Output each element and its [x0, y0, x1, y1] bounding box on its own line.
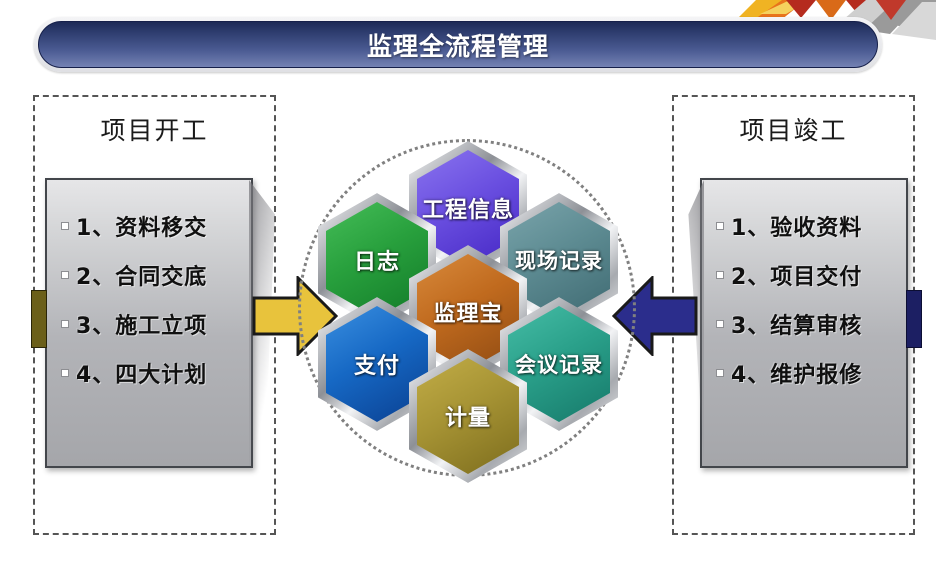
hex-label: 计量 [445, 400, 491, 432]
list-item-label: 3、结算审核 [731, 308, 862, 340]
list-item[interactable]: 3、结算审核 [716, 308, 906, 340]
bullet-icon [716, 320, 724, 328]
list-item-label: 1、验收资料 [731, 210, 862, 242]
list-item-label: 4、维护报修 [731, 357, 862, 389]
hex-label: 日志 [354, 244, 400, 276]
hex-label: 现场记录 [515, 245, 603, 275]
hex-label: 工程信息 [422, 192, 514, 224]
page-title: 监理全流程管理 [367, 27, 549, 63]
hex-label: 会议记录 [515, 349, 603, 379]
bullet-icon [61, 222, 69, 230]
hex-label: 监理宝 [433, 296, 502, 328]
bullet-icon [716, 271, 724, 279]
title-banner-inner: 监理全流程管理 [38, 21, 878, 68]
hexagon-cluster: 工程信息 日志 现场记录 监理宝 支付 [292, 133, 644, 483]
right-panel-tab [906, 290, 922, 348]
left-list-box: 1、资料移交 2、合同交底 3、施工立项 4、四大计划 [45, 178, 253, 468]
bullet-icon [716, 369, 724, 377]
list-item[interactable]: 1、资料移交 [61, 210, 251, 242]
bullet-icon [716, 222, 724, 230]
right-panel-title: 项目竣工 [674, 111, 913, 147]
list-item[interactable]: 2、项目交付 [716, 259, 906, 291]
left-panel-tab [31, 290, 47, 348]
slide-canvas: 监理全流程管理 项目开工 1、资料移交 2、合同交底 3、施工立项 4、四大计划… [0, 0, 936, 571]
list-item[interactable]: 2、合同交底 [61, 259, 251, 291]
bullet-icon [61, 320, 69, 328]
list-item-label: 2、合同交底 [76, 259, 207, 291]
left-panel-title: 项目开工 [35, 111, 274, 147]
right-list-box: 1、验收资料 2、项目交付 3、结算审核 4、维护报修 [700, 178, 908, 468]
list-item[interactable]: 3、施工立项 [61, 308, 251, 340]
bullet-icon [61, 271, 69, 279]
list-item[interactable]: 1、验收资料 [716, 210, 906, 242]
list-item[interactable]: 4、四大计划 [61, 357, 251, 389]
list-item-label: 1、资料移交 [76, 210, 207, 242]
list-item[interactable]: 4、维护报修 [716, 357, 906, 389]
bullet-icon [61, 369, 69, 377]
title-banner: 监理全流程管理 [34, 17, 882, 72]
list-item-label: 3、施工立项 [76, 308, 207, 340]
hex-label: 支付 [354, 348, 400, 380]
list-item-label: 4、四大计划 [76, 357, 207, 389]
list-item-label: 2、项目交付 [731, 259, 862, 291]
